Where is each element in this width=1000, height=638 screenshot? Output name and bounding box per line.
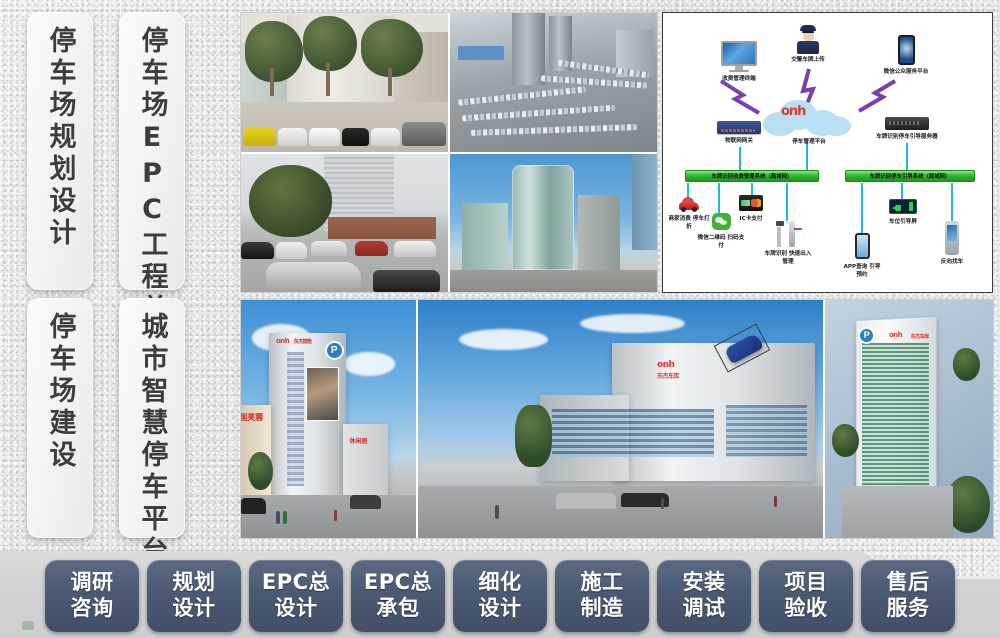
node-charge-terminal: 收费管理终端 [701,41,777,83]
parking-badge: P [327,343,342,358]
step-install-debug[interactable]: 安装 调试 [657,560,751,632]
barrier-gate-icon [775,217,801,247]
connector-server-to-lan [906,143,908,171]
rendering-strip: P onh 东杰智能 国芙蓉 休闲居 onh 东杰车库 [241,300,993,538]
business-card-smart-city-parking-platform[interactable]: 城市智慧停车平台建设 [119,298,185,538]
app-phone-icon [855,233,870,259]
network-gateway-icon [717,121,761,134]
step-line-1: 安装 [683,570,726,596]
rack-server-icon [885,117,929,130]
lan-charge-system: 车牌识别收费管理系统（局域网） [685,170,819,182]
rendering-green-glass-tower: P onh 东杰车库 [825,300,993,538]
step-line-1: 细化 [479,570,522,596]
step-line-1: EPC总 [364,570,432,596]
node-traffic-police: 交警车牌上传 [775,25,841,64]
step-line-1: EPC总 [262,570,330,596]
monitor-icon [701,41,777,72]
rendering-multistorey-garage: onh 东杰车库 [418,300,823,538]
step-line-1: 施工 [581,570,624,596]
billboard [306,367,340,421]
connector-lan-leaf [951,183,953,223]
step-line-2: 调试 [683,596,726,622]
step-line-2: 设计 [479,596,522,622]
connector-lan-leaf [861,183,863,235]
step-line-2: 设计 [275,596,318,622]
photo-grid [241,13,657,292]
leaf-app-query: APP查询 引导 预约 [840,233,884,279]
parking-badge: P [860,329,873,342]
step-line-2: 验收 [785,596,828,622]
cloud-platform: onh 停车管理平台 [763,98,855,140]
step-line-2: 服务 [887,596,930,622]
step-after-sales[interactable]: 售后 服务 [861,560,955,632]
decorative-chip [22,621,34,630]
photo-lot-brick-building [241,154,448,293]
connector-lan-leaf [718,183,720,215]
brand-logo: onh [889,331,902,339]
step-epc-design[interactable]: EPC总 设计 [249,560,343,632]
step-planning[interactable]: 规划 设计 [147,560,241,632]
step-line-2: 制造 [581,596,624,622]
leaf-find-car: 反向找车 [931,221,973,266]
business-card-parking-epc-contracting[interactable]: 停车场EPC工程总承包 [119,12,185,290]
connector-gateway-to-lan [739,147,741,171]
sign-text-right: 休闲居 [350,436,368,445]
leaf-guidance-screen: 车位引导屏 [881,199,925,226]
leaf-plate-gate: 车牌识别 快速出入管理 [763,217,813,266]
step-line-2: 承包 [377,596,420,622]
step-line-1: 项目 [785,570,828,596]
smartphone-icon [859,35,953,65]
brand-sublabel: 东杰智能 [294,338,312,345]
sign-text-left: 国芙蓉 [241,412,263,423]
led-sign-icon [889,199,917,214]
business-card-label: 停车场规划设计 [47,26,74,250]
step-acceptance[interactable]: 项目 验收 [759,560,853,632]
process-bar: 调研 咨询 规划 设计 EPC总 设计 EPC总 承包 细化 设计 施工 制造 … [0,560,1000,632]
system-topology-diagram: 收费管理终端 交警车牌上传 微信公众服务平台 物联网网关 车牌识别停车引导服务器… [662,12,993,293]
brand-logo: onh [276,337,289,345]
photo-street-parking [241,13,448,152]
step-manufacture[interactable]: 施工 制造 [555,560,649,632]
business-card-parking-planning-design[interactable]: 停车场规划设计 [27,12,93,290]
cloud-brand-logo: onh [781,104,805,119]
business-card-label: 停车场建设 [47,312,74,472]
step-line-1: 规划 [173,570,216,596]
rendering-tower-garage: P onh 东杰智能 国芙蓉 休闲居 [241,300,416,538]
node-guidance-server: 车牌识别停车引导服务器 [859,117,955,141]
brand-sublabel: 东杰车库 [657,371,679,380]
photo-aerial-parking [450,13,657,152]
business-card-parking-construction[interactable]: 停车场建设 [27,298,93,538]
brand-sublabel: 东杰车库 [911,333,929,340]
step-epc-contract[interactable]: EPC总 承包 [351,560,445,632]
step-line-2: 设计 [173,596,216,622]
step-line-2: 咨询 [71,596,114,622]
brand-logo: onh [657,360,675,370]
node-wechat-platform: 微信公众服务平台 [859,35,953,76]
step-detail-design[interactable]: 细化 设计 [453,560,547,632]
red-car-icon [678,197,700,211]
connector-lan-leaf [786,183,788,221]
police-officer-icon [775,25,841,54]
wechat-icon [712,213,731,230]
step-research[interactable]: 调研 咨询 [45,560,139,632]
kiosk-icon [945,221,959,255]
photo-office-tower [450,154,657,293]
cloud-label: 停车管理平台 [763,138,855,146]
ic-card-icon [739,195,763,211]
lan-guidance-system: 车牌识别停车引导系统（局域网） [845,170,975,182]
step-line-1: 调研 [71,570,114,596]
step-line-1: 售后 [887,570,930,596]
